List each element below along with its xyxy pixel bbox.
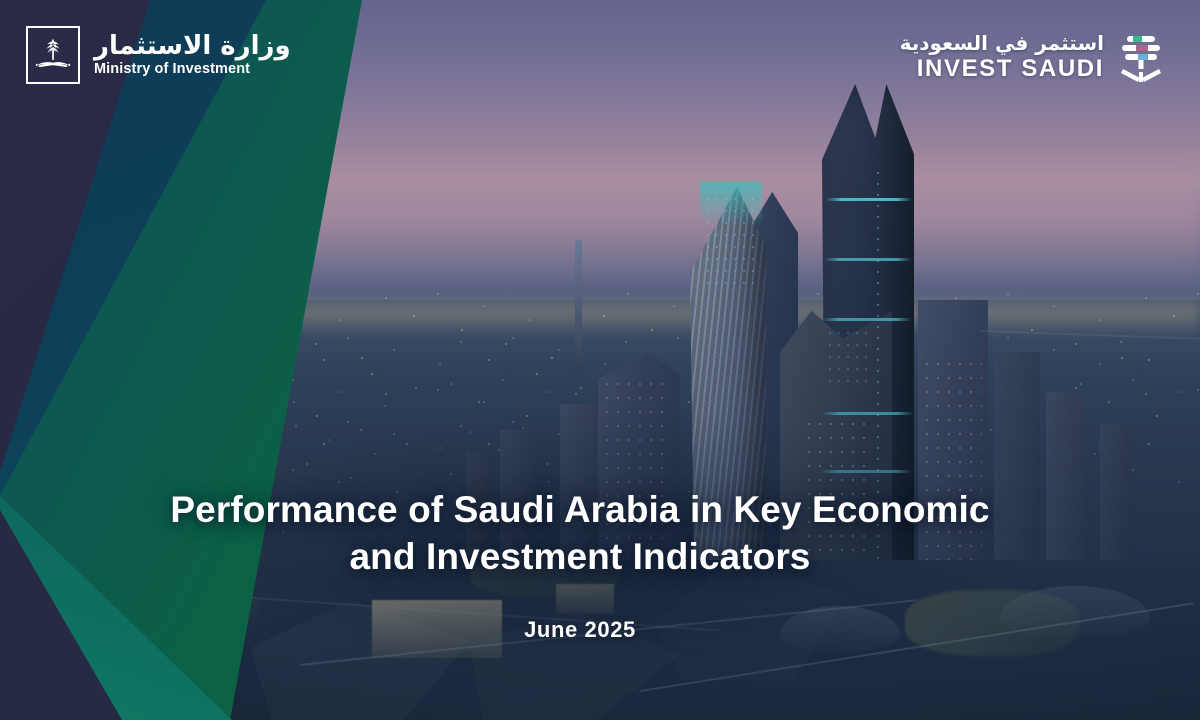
slide-title-line-1: Performance of Saudi Arabia in Key Econo… xyxy=(150,486,1010,533)
majdoul-window-cluster xyxy=(828,330,872,390)
ministry-name-english: Ministry of Investment xyxy=(94,62,291,77)
invest-saudi-name-english: INVEST SAUDI xyxy=(917,57,1104,81)
invest-saudi-palm-swords-icon xyxy=(1116,28,1166,86)
distant-spire xyxy=(575,240,582,370)
slide-date: June 2025 xyxy=(150,617,1010,643)
invest-saudi-name-arabic: استثمر في السعودية xyxy=(900,33,1104,53)
title-slide: وزارة الاستثمار Ministry of Investment ا… xyxy=(0,0,1200,720)
ministry-of-investment-logo[interactable]: وزارة الاستثمار Ministry of Investment xyxy=(26,26,291,84)
majdoul-band-4 xyxy=(822,412,914,415)
ministry-name-arabic: وزارة الاستثمار xyxy=(94,33,291,59)
majdoul-band-3 xyxy=(822,318,912,321)
invest-saudi-logo[interactable]: استثمر في السعودية INVEST SAUDI xyxy=(900,28,1166,86)
slide-title-line-2: and Investment Indicators xyxy=(150,533,1010,580)
invest-saudi-wordmark: استثمر في السعودية INVEST SAUDI xyxy=(900,33,1104,81)
majdoul-band-2 xyxy=(824,258,912,261)
saudi-emblem-palm-swords-icon xyxy=(26,26,80,84)
title-block: Performance of Saudi Arabia in Key Econo… xyxy=(150,486,1010,643)
pif-window-lights xyxy=(706,196,758,292)
ministry-logo-wordmark: وزارة الاستثمار Ministry of Investment xyxy=(94,33,291,77)
majdoul-band-1 xyxy=(826,198,912,201)
